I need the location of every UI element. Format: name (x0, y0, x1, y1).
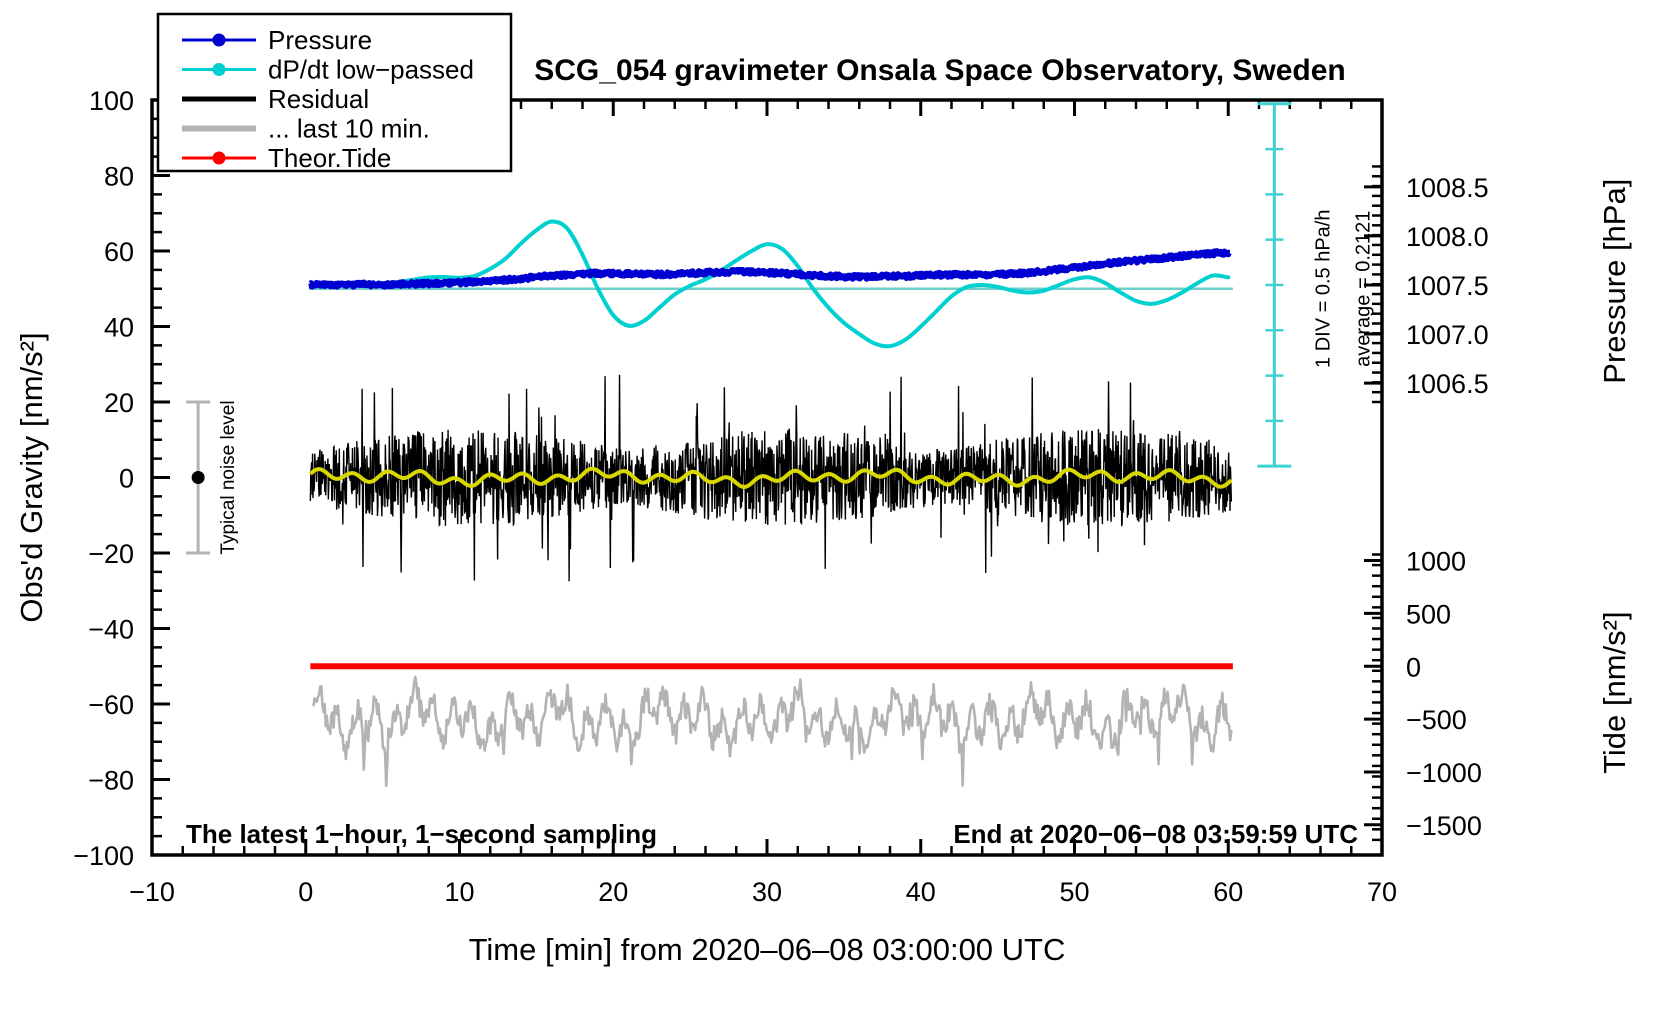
y-axis-title-left: Obs'd Gravity [nm/s²] (14, 332, 49, 622)
scalebar-div-label: 1 DIV = 0.5 hPa/h (1312, 210, 1334, 368)
x-tick-label: −10 (129, 877, 175, 907)
legend-marker (213, 34, 226, 47)
pressure-tick-label: 1008.5 (1406, 173, 1489, 203)
pressure-tick-label: 1008.0 (1406, 222, 1489, 252)
x-tick-label: 10 (444, 877, 474, 907)
x-tick-label: 30 (752, 877, 782, 907)
tide-tick-label: −1500 (1406, 811, 1482, 841)
x-tick-label: 20 (598, 877, 628, 907)
y-tick-label: 80 (104, 162, 134, 192)
y-tick-label: −60 (88, 690, 134, 720)
tide-tick-label: 500 (1406, 599, 1451, 629)
x-tick-label: 70 (1367, 877, 1397, 907)
y-tick-label: 100 (89, 86, 134, 116)
last-10min-trace (313, 677, 1231, 786)
pressure-tick-label: 1007.0 (1406, 320, 1489, 350)
y-tick-label: −80 (88, 766, 134, 796)
legend-marker (213, 152, 226, 165)
tide-tick-label: 1000 (1406, 547, 1466, 577)
data-traces (309, 222, 1233, 786)
legend-label: Pressure (268, 25, 372, 55)
legend-marker (213, 63, 226, 76)
y-axis-title-tide: Tide [nm/s²] (1597, 611, 1632, 774)
legend: PressuredP/dt low−passedResidual... last… (158, 14, 511, 173)
pressure-trace (310, 251, 1229, 287)
y-tick-label: −20 (88, 539, 134, 569)
bottom-left-annotation: The latest 1−hour, 1−second sampling (186, 819, 657, 849)
chart-canvas: −10010203040506070Time [min] from 2020‒0… (0, 0, 1660, 1020)
legend-label: Theor.Tide (268, 143, 391, 173)
y-axis-title-pressure: Pressure [hPa] (1597, 179, 1632, 384)
noise-level-label: Typical noise level (218, 400, 239, 554)
x-axis-title: Time [min] from 2020‒06‒08 03:00:00 UTC (469, 932, 1066, 967)
tide-tick-label: −1000 (1406, 758, 1482, 788)
y-tick-label: 0 (119, 464, 134, 494)
legend-label: ... last 10 min. (268, 114, 430, 144)
x-tick-label: 40 (906, 877, 936, 907)
scalebar-average-label: average = 0.2121 (1352, 211, 1374, 367)
bottom-right-annotation: End at 2020−06−08 03:59:59 UTC (953, 819, 1358, 849)
x-tick-label: 60 (1213, 877, 1243, 907)
tide-tick-label: −500 (1406, 705, 1467, 735)
x-tick-label: 50 (1059, 877, 1089, 907)
y-tick-label: 60 (104, 237, 134, 267)
legend-label: Residual (268, 84, 369, 114)
noise-center-dot (192, 471, 205, 484)
chart-title: SCG_054 gravimeter Onsala Space Observat… (534, 54, 1346, 87)
legend-label: dP/dt low−passed (268, 55, 474, 85)
y-tick-label: 40 (104, 313, 134, 343)
pressure-tick-label: 1006.5 (1406, 369, 1489, 399)
y-tick-label: −100 (73, 841, 134, 871)
pressure-tick-label: 1007.5 (1406, 271, 1489, 301)
tide-tick-label: 0 (1406, 652, 1421, 682)
y-tick-label: 20 (104, 388, 134, 418)
x-tick-label: 0 (298, 877, 313, 907)
gravimeter-plot: −10010203040506070Time [min] from 2020‒0… (0, 0, 1660, 1020)
y-tick-label: −40 (88, 615, 134, 645)
